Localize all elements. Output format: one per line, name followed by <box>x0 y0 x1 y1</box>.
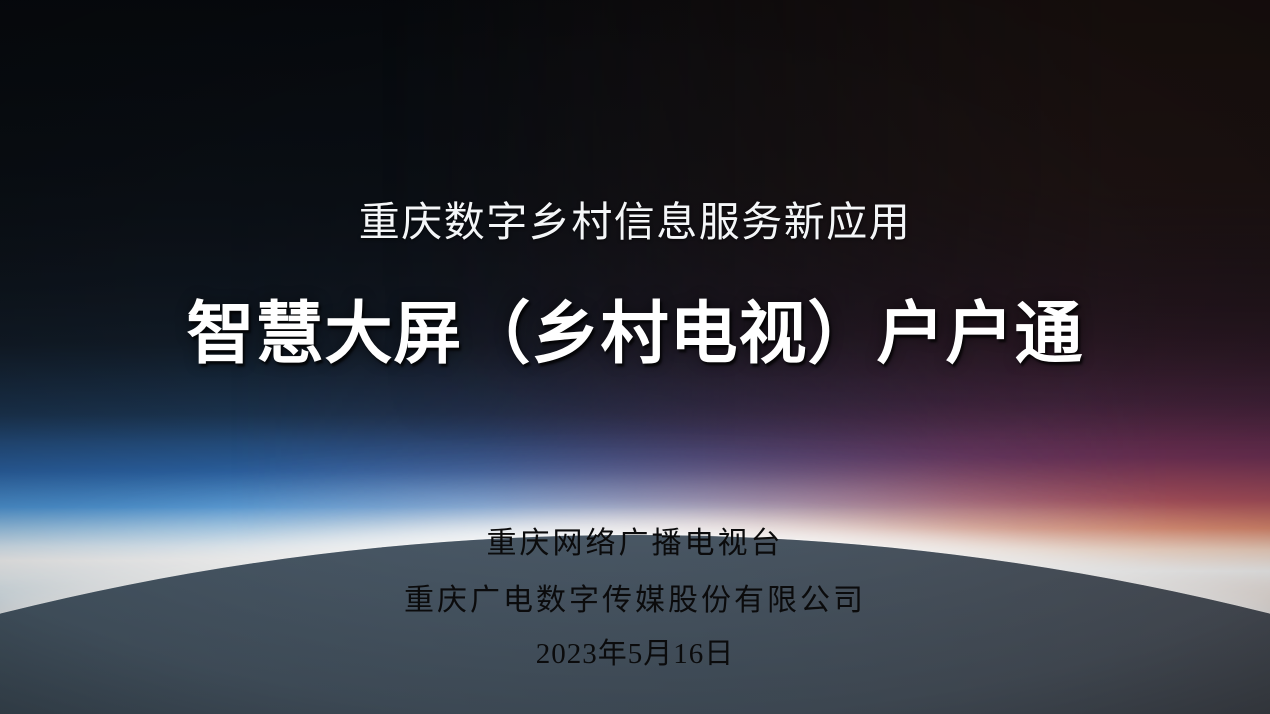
slide-date: 2023年5月16日 <box>0 630 1270 672</box>
organization-secondary: 重庆广电数字传媒股份有限公司 <box>0 575 1270 619</box>
slide-text-layer: 重庆数字乡村信息服务新应用 智慧大屏（乡村电视）户户通 重庆网络广播电视台 重庆… <box>0 0 1270 714</box>
title-slide: 重庆数字乡村信息服务新应用 智慧大屏（乡村电视）户户通 重庆网络广播电视台 重庆… <box>0 0 1270 714</box>
slide-title: 智慧大屏（乡村电视）户户通 <box>0 294 1270 374</box>
slide-subtitle: 重庆数字乡村信息服务新应用 <box>0 197 1270 248</box>
organization-primary: 重庆网络广播电视台 <box>0 518 1270 562</box>
